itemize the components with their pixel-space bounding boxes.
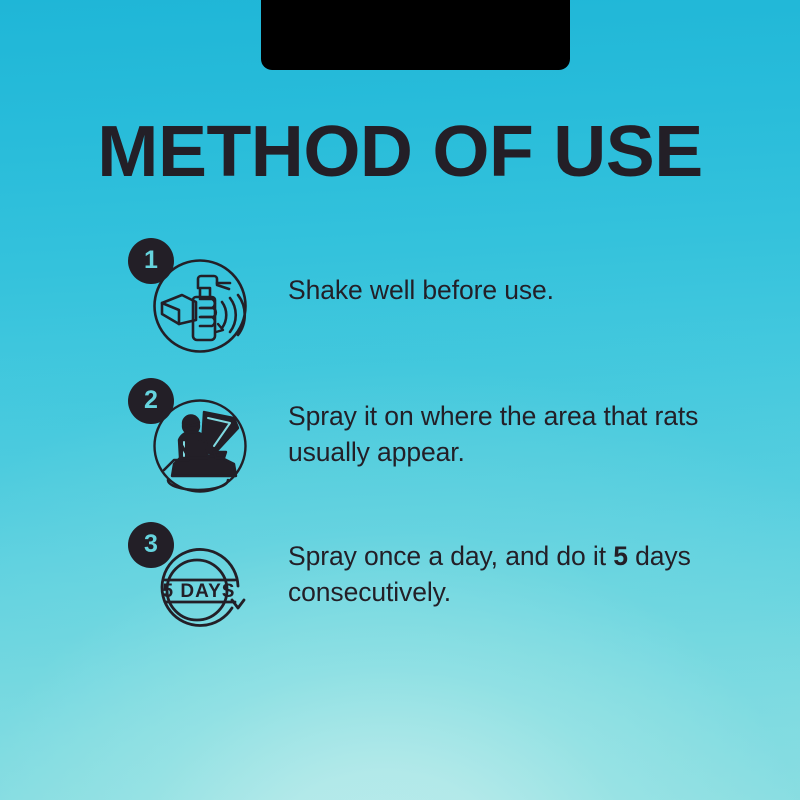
step-item-3: 5 DAYS 3 Spray once a day, and do it 5 d…	[0, 516, 800, 646]
step-item-2: 2 Spray it on where the area that rats u…	[0, 376, 800, 502]
method-of-use-poster: TINSUM Official Store METHOD OF USE	[0, 0, 800, 800]
store-banner-label: TINSUM Official Store	[337, 40, 494, 58]
step-2-number: 2	[144, 388, 158, 415]
step-1-badge: 1	[128, 238, 174, 284]
step-1-figure: 1	[122, 238, 274, 362]
step-item-1: 1 Shake well before use.	[0, 238, 800, 362]
step-1-text: Shake well before use.	[274, 238, 800, 308]
step-2-badge: 2	[128, 378, 174, 424]
step-1-number: 1	[144, 248, 158, 275]
step-3-badge: 3	[128, 522, 174, 568]
five-days-label: 5 DAYS	[163, 581, 236, 602]
step-2-figure: 2	[122, 378, 274, 502]
step-3-number: 3	[144, 532, 158, 559]
step-3-text: Spray once a day, and do it 5 days conse…	[274, 516, 800, 610]
step-2-text: Spray it on where the area that rats usu…	[274, 376, 800, 470]
steps-list: 1 Shake well before use.	[0, 238, 800, 660]
step-3-figure: 5 DAYS 3	[122, 522, 274, 646]
page-title: METHOD OF USE	[0, 114, 800, 190]
store-banner: TINSUM Official Store	[261, 0, 570, 70]
